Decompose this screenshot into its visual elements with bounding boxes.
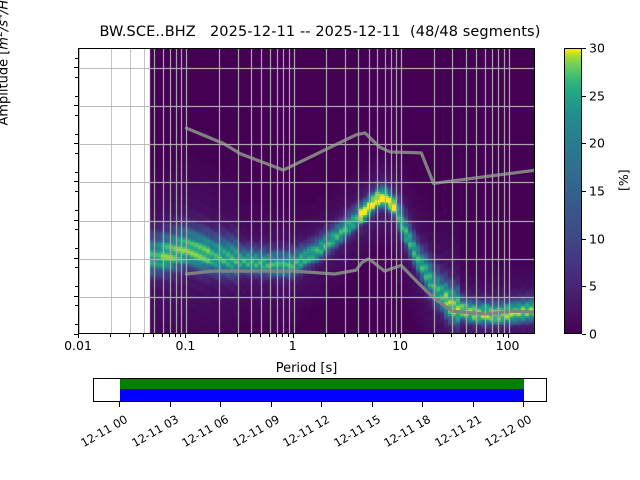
gridline-vertical xyxy=(476,49,477,333)
x-tick-label: 0.01 xyxy=(64,338,92,353)
x-tick-minor xyxy=(110,334,111,337)
x-tick-label: 10 xyxy=(392,338,408,353)
x-tick-minor xyxy=(491,334,492,337)
colorbar-tick-mark xyxy=(582,143,586,144)
x-tick-minor xyxy=(433,334,434,337)
x-tick-minor xyxy=(175,334,176,337)
timeline-tick-label: 12-11 21 xyxy=(425,412,484,454)
y-tick-mark xyxy=(74,296,78,297)
gridline-vertical xyxy=(377,49,378,333)
y-tick-minor xyxy=(75,191,78,192)
x-tick-minor xyxy=(484,334,485,337)
x-tick-minor xyxy=(237,334,238,337)
colorbar-tick-label: 20 xyxy=(589,136,605,151)
x-tick-minor xyxy=(475,334,476,337)
y-tick-minor xyxy=(75,172,78,173)
x-tick-minor xyxy=(153,334,154,337)
gridline-vertical xyxy=(434,49,435,333)
x-tick-minor xyxy=(260,334,261,337)
y-tick-minor xyxy=(75,248,78,249)
gridline-vertical xyxy=(238,49,239,333)
colorbar-tick-label: 30 xyxy=(589,41,605,56)
y-tick-minor xyxy=(75,58,78,59)
x-tick-minor xyxy=(218,334,219,337)
x-tick-minor xyxy=(344,334,345,337)
gridline-vertical xyxy=(289,49,290,333)
gridline-vertical xyxy=(186,49,187,333)
colorbar-tick-label: 15 xyxy=(589,184,605,199)
gridline-vertical xyxy=(369,49,370,333)
colorbar xyxy=(564,48,582,334)
x-tick-label: 1 xyxy=(289,338,297,353)
gridline-vertical xyxy=(251,49,252,333)
y-tick-minor xyxy=(75,115,78,116)
x-tick-minor xyxy=(288,334,289,337)
data-coverage-timeline[interactable] xyxy=(93,378,547,402)
x-tick-minor xyxy=(503,334,504,337)
gridline-vertical xyxy=(492,49,493,333)
y-tick-minor xyxy=(75,96,78,97)
timeline-tick-mark xyxy=(523,402,524,407)
gridline-vertical xyxy=(154,49,155,333)
x-tick-minor xyxy=(325,334,326,337)
gridline-vertical xyxy=(358,49,359,333)
timeline-tick-mark xyxy=(422,402,423,407)
x-tick-minor xyxy=(162,334,163,337)
gridline-vertical xyxy=(283,49,284,333)
timeline-tick-label: 12-11 00 xyxy=(71,412,130,454)
x-tick-minor xyxy=(497,334,498,337)
coverage-band-blue xyxy=(120,389,524,401)
timeline-tick-label: 12-11 12 xyxy=(273,412,332,454)
x-tick-minor xyxy=(465,334,466,337)
x-tick-minor xyxy=(384,334,385,337)
x-tick-minor xyxy=(276,334,277,337)
timeline-tick-label: 12-11 03 xyxy=(122,412,181,454)
x-tick-label: 0.1 xyxy=(175,338,195,353)
x-tick-minor xyxy=(269,334,270,337)
gridline-vertical xyxy=(130,49,131,333)
y-tick-minor xyxy=(75,305,78,306)
timeline-tick-label: 12-12 00 xyxy=(475,412,534,454)
timeline-tick-mark xyxy=(321,402,322,407)
gridline-vertical xyxy=(219,49,220,333)
y-tick-minor xyxy=(75,324,78,325)
x-tick-minor xyxy=(143,334,144,337)
gridline-vertical xyxy=(79,49,80,333)
x-tick-minor xyxy=(395,334,396,337)
timeline-tick-label: 12-11 15 xyxy=(324,412,383,454)
gridline-vertical xyxy=(277,49,278,333)
y-tick-mark xyxy=(74,220,78,221)
x-tick-label: 100 xyxy=(496,338,520,353)
ppsd-plot-area[interactable] xyxy=(78,48,535,334)
colorbar-tick-mark xyxy=(582,334,586,335)
timeline-tick-mark xyxy=(119,402,120,407)
y-tick-minor xyxy=(75,267,78,268)
x-tick-minor xyxy=(180,334,181,337)
colorbar-tick-label: 25 xyxy=(589,88,605,103)
timeline-tick-label: 12-11 09 xyxy=(223,412,282,454)
y-tick-mark xyxy=(74,143,78,144)
coverage-band-green xyxy=(120,379,524,389)
gridline-vertical xyxy=(396,49,397,333)
y-tick-mark xyxy=(74,258,78,259)
gridline-vertical xyxy=(294,49,295,333)
y-tick-minor xyxy=(75,77,78,78)
timeline-tick-mark xyxy=(271,402,272,407)
ppsd-figure: BW.SCE..BHZ 2025-12-11 -- 2025-12-11 (48… xyxy=(0,0,640,480)
gridline-vertical xyxy=(485,49,486,333)
x-tick-minor xyxy=(376,334,377,337)
x-tick-minor xyxy=(368,334,369,337)
colorbar-tick-label: 10 xyxy=(589,231,605,246)
x-tick-minor xyxy=(390,334,391,337)
timeline-tick-mark xyxy=(170,402,171,407)
gridline-vertical xyxy=(385,49,386,333)
y-tick-minor xyxy=(75,153,78,154)
timeline-tick-mark xyxy=(473,402,474,407)
plot-canvas xyxy=(79,49,534,333)
y-tick-minor xyxy=(75,134,78,135)
gridline-vertical xyxy=(111,49,112,333)
y-tick-mark xyxy=(74,105,78,106)
colorbar-tick-mark xyxy=(582,96,586,97)
timeline-tick-label: 12-11 18 xyxy=(374,412,433,454)
timeline-tick-mark xyxy=(220,402,221,407)
gridline-vertical xyxy=(170,49,171,333)
page-title: BW.SCE..BHZ 2025-12-11 -- 2025-12-11 (48… xyxy=(0,24,640,40)
colorbar-tick-label: 5 xyxy=(589,279,597,294)
gridline-vertical xyxy=(181,49,182,333)
y-axis-label: Amplitude [m2/s4/Hz] [dB] xyxy=(0,0,11,191)
timeline-tick-label: 12-11 06 xyxy=(172,412,231,454)
y-tick-minor xyxy=(75,286,78,287)
gridline-vertical xyxy=(498,49,499,333)
gridline-vertical xyxy=(466,49,467,333)
gridline-vertical xyxy=(509,49,510,333)
x-tick-minor xyxy=(250,334,251,337)
timeline-tick-mark xyxy=(372,402,373,407)
gridline-vertical xyxy=(452,49,453,333)
gridline-vertical xyxy=(144,49,145,333)
colorbar-tick-mark xyxy=(582,191,586,192)
gridline-vertical xyxy=(326,49,327,333)
x-tick-minor xyxy=(357,334,358,337)
colorbar-unit-label: [%] xyxy=(616,169,631,191)
y-tick-minor xyxy=(75,229,78,230)
colorbar-tick-label: 0 xyxy=(589,327,597,342)
x-tick-minor xyxy=(451,334,452,337)
y-tick-mark xyxy=(74,181,78,182)
colorbar-tick-mark xyxy=(582,239,586,240)
gridline-vertical xyxy=(504,49,505,333)
x-tick-minor xyxy=(282,334,283,337)
gridline-vertical xyxy=(176,49,177,333)
gridline-vertical xyxy=(401,49,402,333)
gridline-vertical xyxy=(270,49,271,333)
gridline-vertical xyxy=(345,49,346,333)
y-tick-minor xyxy=(75,210,78,211)
y-tick-mark xyxy=(74,67,78,68)
gridline-vertical xyxy=(163,49,164,333)
x-axis-label: Period [s] xyxy=(78,361,535,376)
colorbar-tick-mark xyxy=(582,48,586,49)
gridline-vertical xyxy=(261,49,262,333)
x-tick-minor xyxy=(169,334,170,337)
gridline-vertical xyxy=(391,49,392,333)
x-tick-minor xyxy=(129,334,130,337)
colorbar-tick-mark xyxy=(582,286,586,287)
